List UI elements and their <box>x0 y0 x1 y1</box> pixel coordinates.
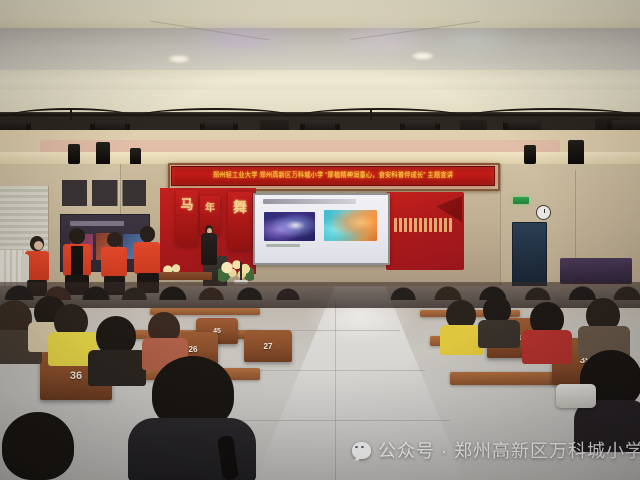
floor-tile-line-3 <box>225 420 450 421</box>
presenter <box>199 225 219 273</box>
student-right-3 <box>522 302 576 362</box>
exit-sign-icon <box>513 197 529 204</box>
volunteer-head <box>140 226 155 242</box>
volunteer-vest <box>101 247 127 277</box>
wall-picture-frames <box>62 180 146 206</box>
student-torso <box>478 320 520 348</box>
wechat-icon <box>352 442 371 459</box>
wall-speaker-left-1 <box>68 144 80 164</box>
watermark: 公众号 · 郑州高新区万科城小学 <box>352 437 640 463</box>
wall-clock-icon <box>536 205 551 220</box>
student-head <box>2 412 74 480</box>
slide-image-left <box>264 212 315 241</box>
red-banner-gold-text <box>394 218 452 232</box>
floor-tile-line-2 <box>240 370 425 371</box>
wall-speaker-left-3 <box>130 148 141 165</box>
student-torso <box>522 330 572 364</box>
audience-heads-band <box>0 278 640 300</box>
downlight-2 <box>412 52 434 60</box>
student-foreground-center <box>128 356 258 480</box>
seat-number: 27 <box>244 342 292 351</box>
slide-caption-bar <box>266 244 301 247</box>
ceiling-glow-mid <box>330 28 440 50</box>
wall-speaker-right-1 <box>524 145 536 164</box>
auditorium-photo: 郑州轻工业大学 郑州高新区万科城小学 “厚植精神润童心，食安科普伴成长” 主题宣… <box>0 0 640 480</box>
student-right-4 <box>576 298 632 356</box>
volunteer-vest <box>134 242 160 274</box>
ceiling-recess <box>0 28 640 72</box>
watermark-text: 公众号 · 郑州高新区万科城小学 <box>378 437 640 463</box>
wall-seam-right <box>500 164 501 289</box>
student-shoe <box>556 384 596 408</box>
truss-hanger-1 <box>70 110 72 120</box>
scroll-char-nian: 年 <box>200 199 220 214</box>
screen-surface <box>255 195 388 263</box>
volunteer-inner <box>71 246 83 276</box>
ceiling-band-2 <box>0 70 640 92</box>
truss-hanger-2 <box>370 110 372 120</box>
scroll-char-ma: 马 <box>176 194 198 213</box>
downlight-1 <box>168 55 190 63</box>
led-stage-banner: 郑州轻工业大学 郑州高新区万科城小学 “厚植精神润童心，食安科普伴成长” 主题宣… <box>171 166 495 186</box>
ceiling-glow-left <box>180 28 300 50</box>
presenter-body <box>201 233 217 265</box>
ceiling-glow-right <box>430 28 520 50</box>
slide-title-bar <box>263 199 356 204</box>
student-foreground-left <box>0 388 94 480</box>
volunteer-head <box>69 228 85 244</box>
volunteer-face <box>34 241 43 250</box>
wall-speaker-left-2 <box>96 142 110 165</box>
volunteer-head <box>107 232 122 247</box>
slide-image-right <box>324 210 377 241</box>
floor-tile-line-4 <box>335 300 336 480</box>
banner-text: 郑州轻工业大学 郑州高新区万科城小学 “厚植精神润童心，食安科普伴成长” 主题宣… <box>213 173 453 180</box>
wall-speaker-right-2 <box>568 140 584 166</box>
red-scroll-mid: 舞 <box>228 192 252 250</box>
red-scroll-left: 马 <box>176 190 198 246</box>
board-heading <box>70 221 125 226</box>
student-right-2 <box>478 296 526 346</box>
ceiling-top-band <box>0 0 640 30</box>
scroll-char-wu: 舞 <box>228 197 252 217</box>
wechat-icon-tail <box>354 456 359 461</box>
projection-screen <box>253 193 390 265</box>
